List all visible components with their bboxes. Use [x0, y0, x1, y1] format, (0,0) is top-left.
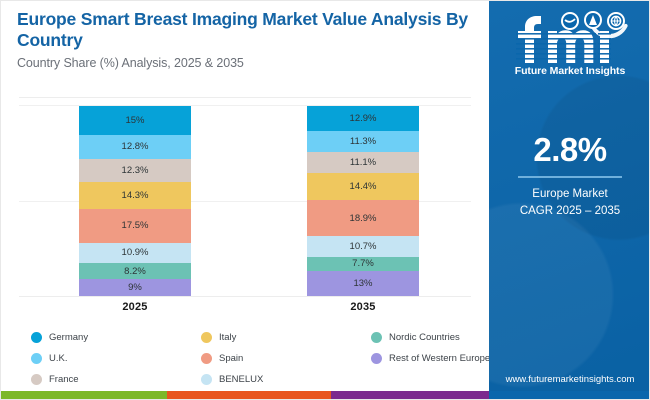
- bar-segment-label: 7.7%: [352, 258, 374, 269]
- bar-segment: 13%: [307, 271, 419, 296]
- bar-segment-label: 10.9%: [122, 247, 149, 258]
- legend-label: Nordic Countries: [389, 332, 460, 343]
- legend-swatch-icon: [201, 353, 212, 364]
- chart-infographic: Europe Smart Breast Imaging Market Value…: [0, 0, 650, 400]
- plot-area: 15%12.8%12.3%14.3%17.5%10.9%8.2%9% 12.9%…: [1, 105, 489, 297]
- bar-segment: 12.8%: [79, 135, 191, 159]
- legend-swatch-icon: [31, 353, 42, 364]
- bar-segment-label: 14.3%: [122, 190, 149, 201]
- legend-swatch-icon: [371, 332, 382, 343]
- bar-segment-label: 18.9%: [350, 213, 377, 224]
- bar-segment-label: 11.1%: [350, 157, 376, 168]
- x-tick-label-2025: 2025: [79, 301, 191, 313]
- legend-item[interactable]: Nordic Countries: [371, 332, 471, 343]
- bar-segment-label: 8.2%: [124, 266, 146, 277]
- bar-segment: 12.3%: [79, 159, 191, 182]
- bottom-accent-stripe: [1, 391, 650, 399]
- legend-swatch-icon: [31, 332, 42, 343]
- bar-segment: 11.3%: [307, 131, 419, 152]
- header-divider: [19, 97, 471, 98]
- bar-segment-label: 12.8%: [122, 141, 149, 152]
- cagr-caption-line2: CAGR 2025 – 2035: [489, 203, 650, 220]
- axis-baseline: [19, 296, 471, 297]
- legend-item[interactable]: Germany: [31, 332, 201, 343]
- stripe-segment-orange: [167, 391, 331, 399]
- legend-swatch-icon: [201, 332, 212, 343]
- bar-segment: 8.2%: [79, 263, 191, 279]
- cagr-callout: 2.8% Europe Market CAGR 2025 – 2035: [489, 133, 650, 219]
- bar-segment: 17.5%: [79, 209, 191, 242]
- bar-segment: 14.3%: [79, 182, 191, 209]
- legend-item[interactable]: BENELUX: [201, 374, 371, 385]
- cagr-value: 2.8%: [489, 133, 650, 166]
- stacked-bar-2035: 12.9%11.3%11.1%14.4%18.9%10.7%7.7%13%: [307, 106, 419, 296]
- fmi-logo: Future Market Insights: [489, 11, 650, 77]
- legend-label: Italy: [219, 332, 236, 343]
- legend-label: Rest of Western Europe: [389, 353, 490, 364]
- bar-segment-label: 15%: [125, 115, 144, 126]
- bar-segment-label: 17.5%: [122, 220, 149, 231]
- legend-swatch-icon: [371, 353, 382, 364]
- logo-emblems: [561, 11, 625, 30]
- website-url: www.futuremarketinsights.com: [489, 374, 650, 385]
- cagr-caption: Europe Market CAGR 2025 – 2035: [489, 186, 650, 219]
- bar-segment-label: 12.3%: [122, 165, 149, 176]
- legend-label: U.K.: [49, 353, 67, 364]
- bar-segment-label: 14.4%: [350, 181, 377, 192]
- bar-segment-label: 13%: [353, 278, 372, 289]
- stacked-bar-2025: 15%12.8%12.3%14.3%17.5%10.9%8.2%9%: [79, 106, 191, 296]
- stripe-segment-purple: [331, 391, 489, 399]
- chart-pane: Europe Smart Breast Imaging Market Value…: [1, 1, 489, 393]
- bar-segment: 10.7%: [307, 236, 419, 256]
- bar-segment-label: 10.7%: [350, 241, 377, 252]
- bar-segment: 9%: [79, 279, 191, 296]
- legend-label: France: [49, 374, 79, 385]
- bar-segment: 7.7%: [307, 257, 419, 272]
- bar-segment-label: 9%: [128, 282, 142, 293]
- legend-item[interactable]: Italy: [201, 332, 371, 343]
- legend-item[interactable]: U.K.: [31, 353, 201, 364]
- legend-item[interactable]: Rest of Western Europe: [371, 353, 471, 364]
- legend-label: BENELUX: [219, 374, 263, 385]
- cagr-divider: [518, 176, 622, 178]
- cagr-caption-line1: Europe Market: [489, 186, 650, 203]
- chart-legend: GermanyItalyNordic CountriesU.K.SpainRes…: [31, 327, 471, 390]
- bar-segment: 10.9%: [79, 243, 191, 264]
- logo-tagline: Future Market Insights: [489, 65, 650, 77]
- bar-segment: 18.9%: [307, 200, 419, 236]
- x-tick-label-2035: 2035: [307, 301, 419, 313]
- stripe-segment-green: [1, 391, 167, 399]
- page-subtitle: Country Share (%) Analysis, 2025 & 2035: [17, 56, 479, 70]
- bar-segment: 15%: [79, 106, 191, 135]
- title-block: Europe Smart Breast Imaging Market Value…: [17, 9, 479, 70]
- legend-item[interactable]: France: [31, 374, 201, 385]
- legend-swatch-icon: [31, 374, 42, 385]
- bar-segment-label: 11.3%: [350, 136, 376, 147]
- legend-label: Spain: [219, 353, 243, 364]
- bar-segment-label: 12.9%: [350, 113, 377, 124]
- page-title: Europe Smart Breast Imaging Market Value…: [17, 9, 479, 51]
- stripe-segment-blue: [489, 391, 650, 399]
- bar-segment: 11.1%: [307, 152, 419, 173]
- branding-panel: Future Market Insights 2.8% Europe Marke…: [489, 1, 650, 393]
- legend-label: Germany: [49, 332, 88, 343]
- legend-swatch-icon: [201, 374, 212, 385]
- fmi-logo-icon: [508, 11, 632, 63]
- bar-segment: 14.4%: [307, 173, 419, 200]
- bar-segment: 12.9%: [307, 106, 419, 131]
- legend-item[interactable]: Spain: [201, 353, 371, 364]
